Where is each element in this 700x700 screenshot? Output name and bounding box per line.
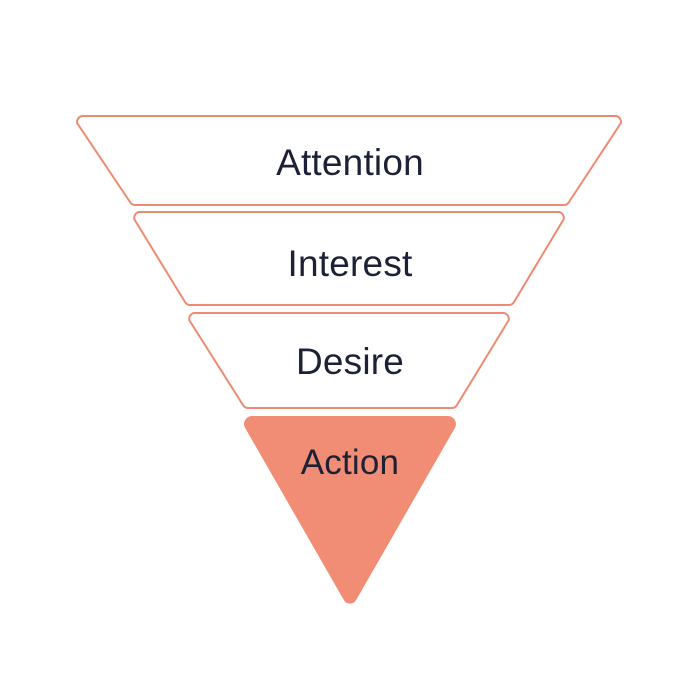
funnel-label-attention: Attention [0,142,700,184]
funnel-label-desire: Desire [0,341,700,383]
funnel-diagram: Attention Interest Desire Action [0,0,700,700]
funnel-label-interest: Interest [0,243,700,285]
funnel-label-action: Action [0,443,700,483]
